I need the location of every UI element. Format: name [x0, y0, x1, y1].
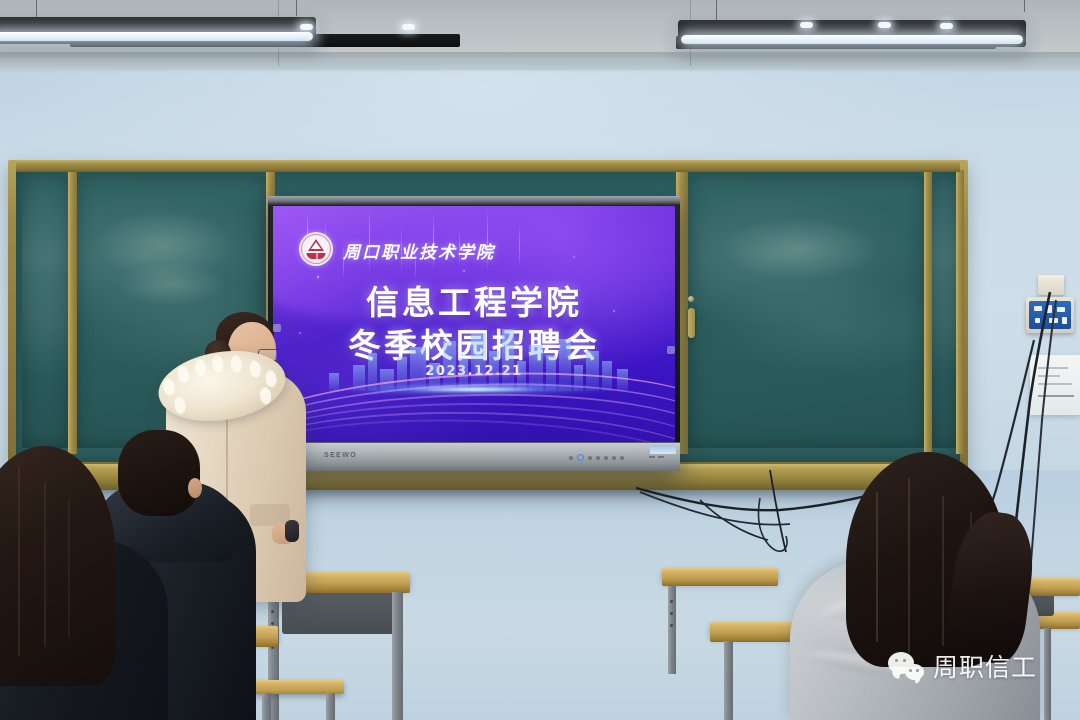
wall-notice: [1030, 355, 1080, 415]
wechat-watermark: 周职信工: [888, 648, 1037, 684]
tv-indicator-dashes: [649, 456, 664, 458]
tv-screen[interactable]: 周口职业技术学院 信息工程学院 冬季校园招聘会 2023.12.21: [273, 206, 675, 443]
far-right-chalkboard-panel: [930, 176, 958, 448]
interactive-flat-panel[interactable]: 周口职业技术学院 信息工程学院 冬季校园招聘会 2023.12.21: [268, 196, 680, 471]
ceiling-shadow: [0, 52, 1080, 74]
chalkboard-slide-handle[interactable]: [688, 308, 695, 338]
slide-school-name: 周口职业技术学院: [343, 238, 495, 263]
watermark-account-name: 周职信工: [933, 648, 1037, 684]
wall-socket-panel[interactable]: [1026, 297, 1074, 333]
tv-control-buttons[interactable]: [569, 454, 624, 461]
college-emblem-icon: [299, 232, 333, 266]
wechat-icon: [888, 652, 924, 680]
presenter-wrist-band: [285, 520, 299, 542]
classroom-photo: 周口职业技术学院 信息工程学院 冬季校园招聘会 2023.12.21: [0, 0, 1080, 720]
wall-junction-box: [1038, 275, 1064, 295]
tv-brand-label: SEEWO: [324, 452, 357, 459]
left-chalkboard-panel: [22, 176, 70, 448]
slide-title-line1: 信息工程学院: [273, 276, 675, 324]
tv-spec-sticker: [650, 445, 676, 454]
tv-bezel-bottom: SEEWO: [268, 442, 680, 471]
right-chalkboard-panel: [686, 176, 926, 448]
presentation-slide: 周口职业技术学院 信息工程学院 冬季校园招聘会 2023.12.21: [273, 206, 675, 443]
